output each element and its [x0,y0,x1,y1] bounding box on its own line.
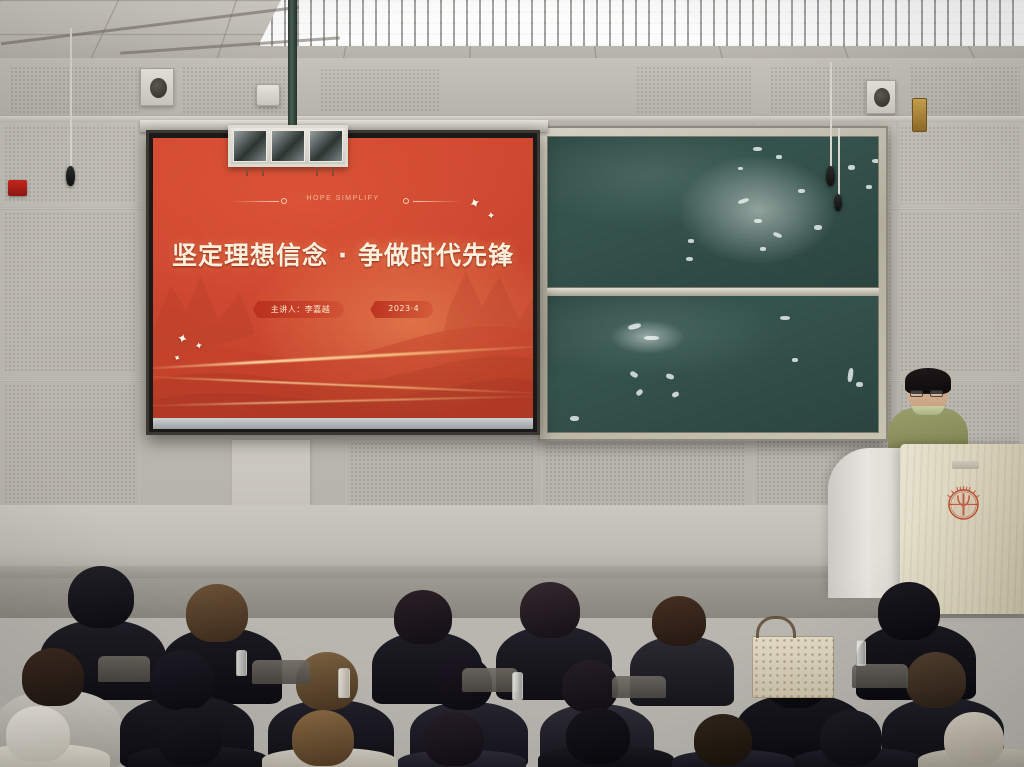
slide-mountain-silhouettes [153,138,533,418]
projector-cage-cell [233,130,267,162]
auditorium-chair [98,656,150,682]
screen-bottom-bar [153,418,533,429]
chalk-mark [754,219,762,223]
acoustic-panel [10,66,140,114]
audience-head [652,596,706,646]
chalk-mark [644,336,659,340]
speaker-cone [874,88,890,107]
chalk-mark [792,358,798,362]
dove-icon: ✦ [194,341,204,353]
slide-meta-row: 主讲人：李嘉越 2023·4 [153,301,533,318]
university-crest-icon [940,480,987,527]
tote-bag [752,636,834,698]
wall-speaker-right [866,80,896,114]
lecture-hall-photo: HOPE SIMPLIFY 坚定理想信念 · 争做时代先锋 主讲人：李嘉越 20… [0,0,1024,767]
projector-cage-leg [332,167,334,176]
ceiling [0,0,1024,62]
ceiling-mic-wire-right [830,62,832,168]
chalk-mark [814,225,822,230]
chalk-mark [753,147,762,151]
deco-dot-right [403,198,409,204]
audience-head [158,708,222,766]
water-bottle [512,672,523,700]
chalk-smudge [678,155,838,265]
water-bottle [236,650,247,676]
chalk-mark [847,368,854,383]
projector-cage-leg [262,167,264,176]
deco-line-left [231,201,279,202]
blackboard-panel-bottom [547,295,879,433]
auditorium-chair [852,664,908,688]
amber-wall-device [912,98,927,132]
projection-screen: HOPE SIMPLIFY 坚定理想信念 · 争做时代先锋 主讲人：李嘉越 20… [146,130,540,435]
chalk-mark [798,189,805,193]
water-bottle [338,668,350,698]
auditorium-chair [252,660,310,684]
chalk-mark [570,416,579,421]
deco-dot-left [281,198,287,204]
audience-head [186,584,248,642]
audience-head [520,582,580,638]
water-bottle [856,640,866,666]
ceiling-mic-wire-left [70,28,72,168]
tote-bag-handle [756,616,796,638]
chalk-mark [665,373,674,380]
audience-head [22,648,84,706]
blackboard-mic-wire [838,128,840,196]
chalk-mark [872,159,879,163]
chalk-mark [760,247,766,251]
projector-cage-leg [316,167,318,176]
stage-platform-edge [828,448,870,598]
chalk-mark [686,257,693,261]
audience-head [68,566,134,628]
chalk-mark [688,239,694,243]
projector-mount-pole [288,0,297,128]
audience-head [820,710,882,766]
acoustic-panel [900,212,1020,372]
projector-cage [228,125,348,167]
speaker-cone [150,78,167,98]
glasses-lens-left [910,390,923,397]
chalk-mark [738,167,743,170]
presenter-collar [912,406,944,415]
chalk-mark [856,382,863,387]
ceiling-mount-box [256,84,280,106]
chalk-mark [848,165,855,170]
acoustic-panel [320,68,440,112]
chalk-mark [866,185,872,189]
dove-icon: ✦ [487,212,496,223]
audience-head [694,714,752,766]
acoustic-panel [900,126,1020,204]
chalk-mark [629,370,638,378]
chalk-mark [780,316,790,320]
chalk-mark [671,391,679,398]
audience-head [878,582,940,640]
blackboard-chalk-rail [547,288,879,296]
acoustic-panel [636,66,751,114]
chalk-mark [635,388,644,396]
audience-head [566,708,630,764]
auditorium-chair [462,668,518,692]
slide-title: 坚定理想信念 · 争做时代先锋 [153,236,533,272]
audience-head [394,590,452,644]
projector-cage-leg [246,167,248,176]
auditorium-chair [612,676,666,698]
ceiling-mic-right [826,166,835,186]
slide-presenter-pill: 主讲人：李嘉越 [253,301,345,318]
blackboard-mic [834,194,842,211]
upper-wall-band [0,58,1024,122]
projected-slide: HOPE SIMPLIFY 坚定理想信念 · 争做时代先锋 主讲人：李嘉越 20… [153,138,533,418]
glasses-lens-right [930,390,943,397]
deco-line-right [413,201,461,202]
acoustic-panel [4,212,136,372]
audience-head [944,712,1004,766]
podium-name-plate [952,461,979,469]
wall-speaker-left [140,68,174,106]
blackboard [538,126,888,441]
slide-date-pill: 2023·4 [370,301,433,318]
fire-alarm [8,180,27,196]
chalk-mark [776,155,782,159]
projector-cage-cell [309,130,343,162]
projector-cage-cell [271,130,305,162]
audience-head [906,652,966,708]
slide-decorative-english: HOPE SIMPLIFY [306,195,379,202]
presenter-glasses [910,390,946,397]
fluorescent-ceiling-light [258,0,1024,46]
glasses-bridge [923,393,930,394]
ceiling-mic-left [66,166,75,186]
audience-head [6,706,70,762]
audience-head [562,660,618,712]
audience-head [292,710,354,766]
audience-head [150,650,214,710]
audience-head [424,712,484,766]
